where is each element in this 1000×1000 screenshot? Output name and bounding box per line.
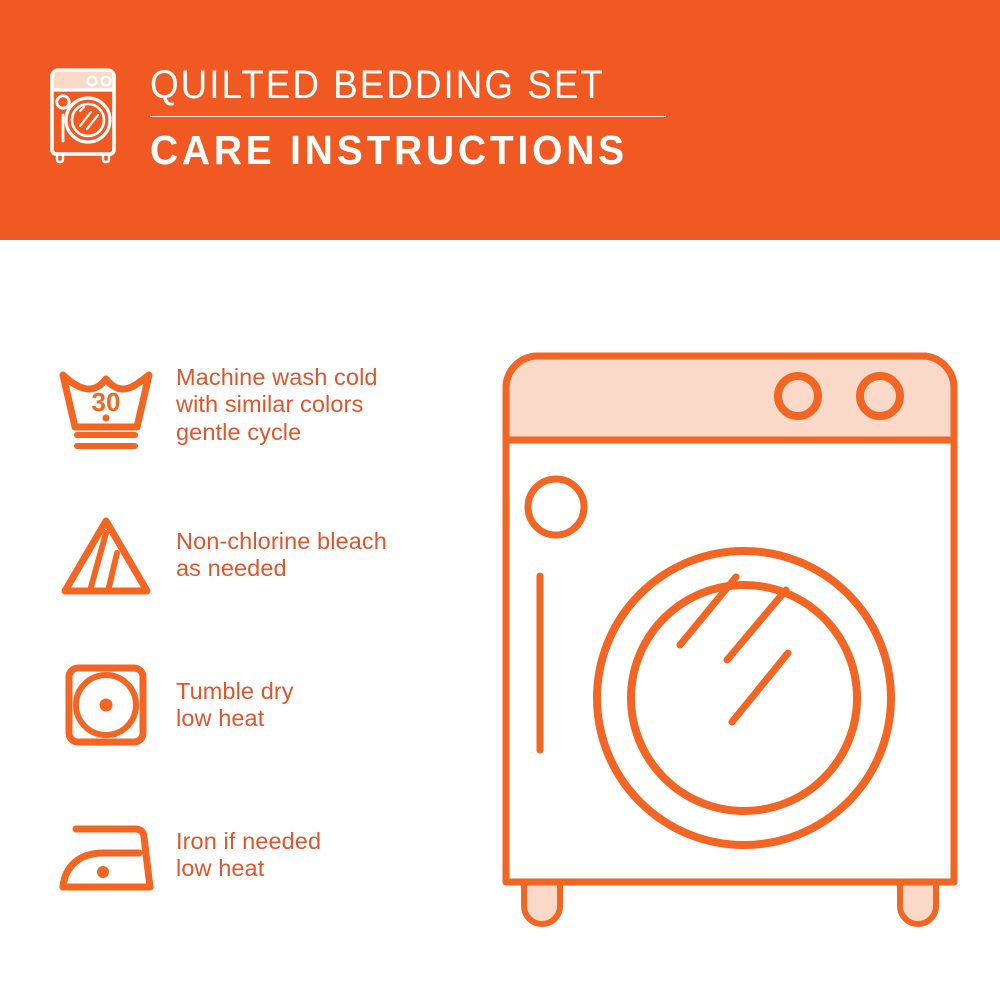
washer-control-panel <box>506 356 954 440</box>
page-title: QUILTED BEDDING SET <box>150 62 625 108</box>
page-header: QUILTED BEDDING SET CARE INSTRUCTIONS <box>0 0 1000 240</box>
care-row: Tumble dry low heat <box>46 630 476 780</box>
care-label: Non-chlorine bleach as needed <box>176 528 387 583</box>
wash-tub-30-gentle-icon: 30 <box>46 355 166 455</box>
wash-temperature-value: 30 <box>92 387 121 417</box>
care-instruction-list: 30 Machine wash cold with similar colors… <box>46 330 476 930</box>
washing-machine-icon <box>44 58 128 168</box>
care-row: 30 Machine wash cold with similar colors… <box>46 330 476 480</box>
care-row: Iron if needed low heat <box>46 780 476 930</box>
care-label: Iron if needed low heat <box>176 828 321 883</box>
header-titles: QUILTED BEDDING SET CARE INSTRUCTIONS <box>150 58 666 174</box>
page-subtitle: CARE INSTRUCTIONS <box>150 126 640 174</box>
front-load-washing-machine-illustration <box>488 330 988 930</box>
triangle-non-chlorine-bleach-icon <box>46 505 166 605</box>
iron-low-heat-icon <box>46 805 166 905</box>
title-divider <box>150 116 666 117</box>
header-content: QUILTED BEDDING SET CARE INSTRUCTIONS <box>44 58 666 174</box>
care-label: Machine wash cold with similar colors ge… <box>176 364 378 447</box>
tumble-dry-low-heat-icon <box>46 655 166 755</box>
care-label: Tumble dry low heat <box>176 678 294 733</box>
care-row: Non-chlorine bleach as needed <box>46 480 476 630</box>
